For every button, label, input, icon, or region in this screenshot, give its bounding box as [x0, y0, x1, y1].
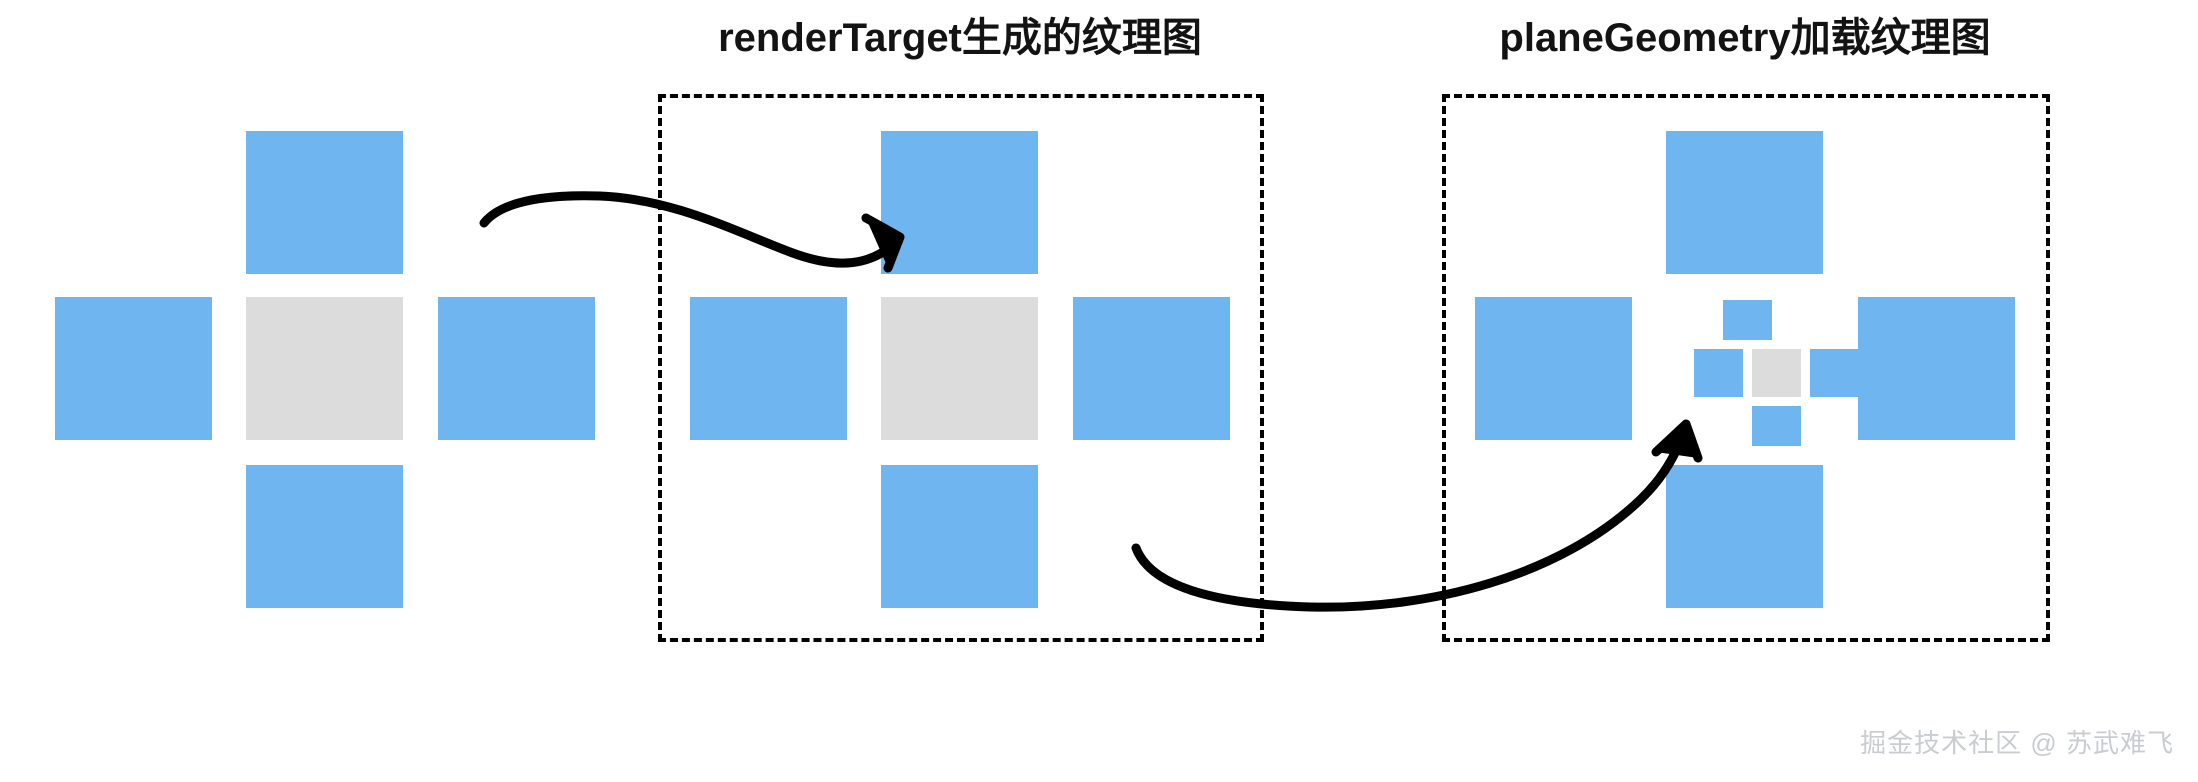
- render-target-cross-group: [690, 131, 1230, 611]
- render-target-cell-center: [881, 297, 1038, 440]
- plane-geometry-group-title: planeGeometry加载纹理图: [1442, 18, 2048, 58]
- source-cell-center: [246, 297, 403, 440]
- diagram-canvas: renderTarget生成的纹理图 planeGeometry加载纹理图: [0, 0, 2198, 782]
- render-target-cell-top: [881, 131, 1038, 274]
- mini-cell-bottom: [1752, 406, 1801, 446]
- render-target-cell-bottom: [881, 465, 1038, 608]
- plane-geometry-cell-left: [1475, 297, 1632, 440]
- mini-cell-right: [1810, 349, 1859, 397]
- render-target-cell-left: [690, 297, 847, 440]
- plane-geometry-cell-bottom: [1666, 465, 1823, 608]
- watermark: 掘金技术社区 @ 苏武难飞: [1860, 723, 2174, 760]
- source-cross-group: [55, 131, 595, 611]
- mini-cell-left: [1694, 349, 1743, 397]
- render-target-cell-right: [1073, 297, 1230, 440]
- mini-cell-top: [1723, 300, 1772, 340]
- plane-geometry-cell-right: [1858, 297, 2015, 440]
- source-cell-left: [55, 297, 212, 440]
- mini-cell-center: [1752, 349, 1801, 397]
- source-cell-bottom: [246, 465, 403, 608]
- source-cell-top: [246, 131, 403, 274]
- mini-cross: [1694, 300, 1801, 405]
- render-target-group-title: renderTarget生成的纹理图: [658, 18, 1262, 58]
- source-cell-right: [438, 297, 595, 440]
- plane-geometry-cell-top: [1666, 131, 1823, 274]
